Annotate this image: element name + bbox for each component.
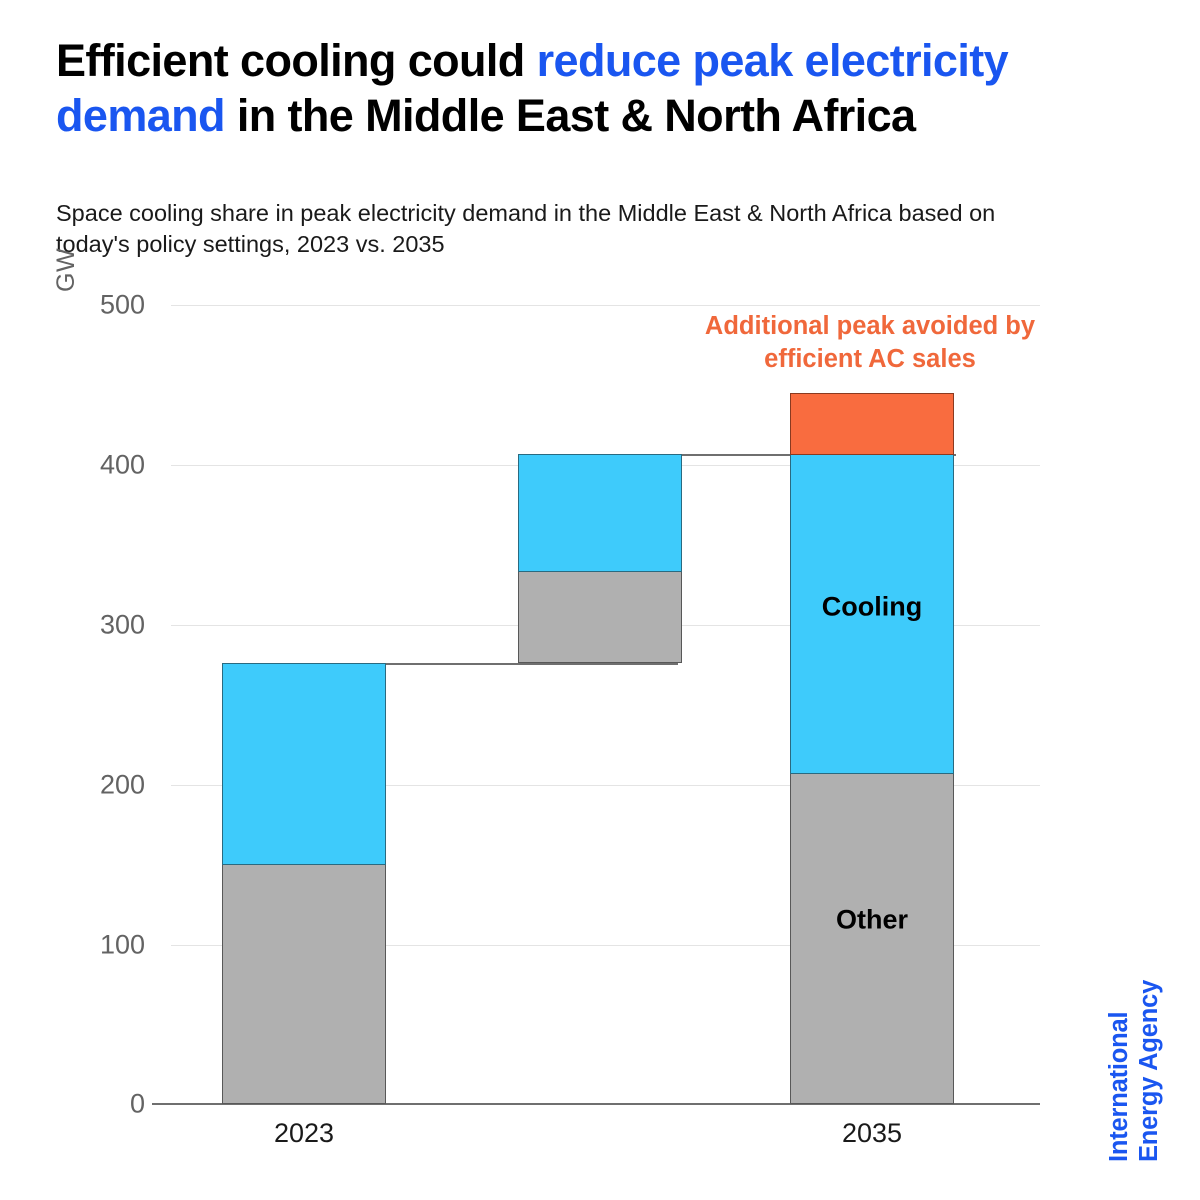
x-tick-2035: 2035 [772,1118,972,1149]
y-tick-0: 0 [35,1089,145,1120]
iea-branding: International Energy Agency [1104,980,1164,1162]
iea-branding-line-2: Energy Agency [1134,980,1164,1162]
bar-growth-segment-cooling[interactable] [518,454,682,572]
iea-branding-line-1: International [1104,980,1134,1162]
bar-growth-segment-other[interactable] [518,571,682,663]
label-other: Other [772,905,972,936]
bar-2035-segment-avoided[interactable] [790,393,954,455]
y-tick-100: 100 [35,930,145,961]
bar-2023-segment-other[interactable] [222,864,386,1104]
bar-2023-segment-cooling[interactable] [222,663,386,865]
y-tick-200: 200 [35,770,145,801]
y-tick-500: 500 [35,290,145,321]
annotation-additional-peak-avoided: Additional peak avoided by efficient AC … [700,310,1040,375]
x-tick-2023: 2023 [204,1118,404,1149]
y-tick-300: 300 [35,610,145,641]
bar-2035-segment-other[interactable] [790,773,954,1104]
y-tick-400: 400 [35,450,145,481]
chart-plot-area: GW 500 400 300 200 100 0 Cooling Other A… [0,0,1200,1200]
gridline-500 [171,305,1040,306]
label-cooling: Cooling [772,592,972,623]
y-axis-unit-label: GW [52,248,81,292]
